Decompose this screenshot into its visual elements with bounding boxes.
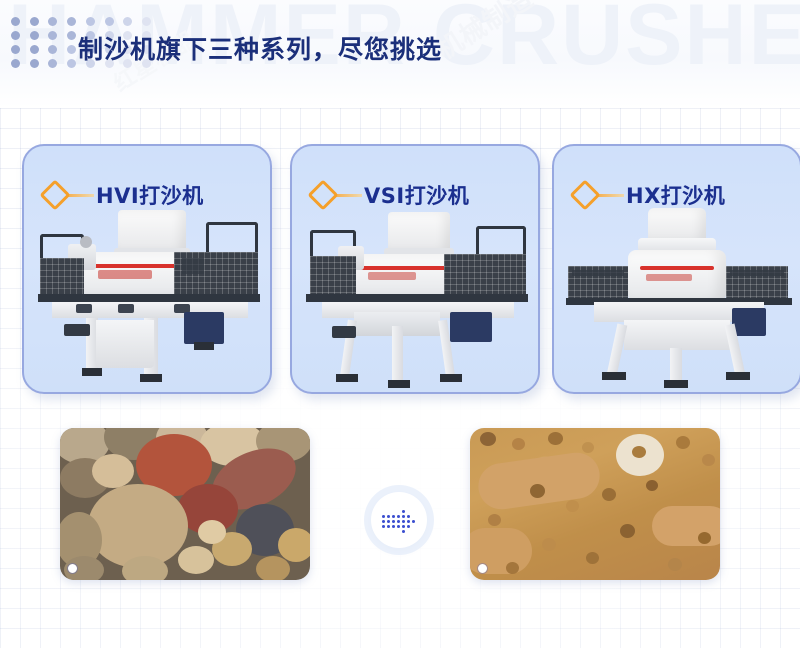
series-card-title: HVI打沙机 bbox=[96, 180, 204, 210]
series-card-title: VSI打沙机 bbox=[364, 180, 469, 210]
series-card-vsi[interactable]: VSI打沙机 bbox=[290, 144, 540, 394]
card-header: VSI打沙机 bbox=[312, 180, 469, 210]
output-photo-card[interactable] bbox=[470, 428, 720, 580]
series-card-hx[interactable]: HX打沙机 bbox=[552, 144, 800, 394]
process-arrow-badge bbox=[371, 492, 427, 548]
hx-sand-making-machine-photo bbox=[554, 208, 800, 418]
connector-dash-icon bbox=[598, 194, 624, 197]
diamond-marker-icon bbox=[569, 179, 600, 210]
river-stone-raw-material-photo bbox=[60, 428, 310, 580]
page-title: 制沙机旗下三种系列，尽您挑选 bbox=[78, 30, 442, 66]
diamond-marker-icon bbox=[307, 179, 338, 210]
vsi-sand-making-machine-photo bbox=[292, 208, 542, 418]
page-header: HAMMER CRUSHER 机械制造 红星机器 制沙机旗下三种系列，尽您挑选 bbox=[0, 0, 800, 108]
series-card-hvi[interactable]: HVI打沙机 bbox=[22, 144, 272, 394]
input-photo-card[interactable] bbox=[60, 428, 310, 580]
connector-dash-icon bbox=[68, 194, 94, 197]
card-header: HX打沙机 bbox=[574, 180, 725, 210]
connector-anchor-dot bbox=[68, 564, 77, 573]
card-header: HVI打沙机 bbox=[44, 180, 204, 210]
connector-dash-icon bbox=[336, 194, 362, 197]
series-card-title: HX打沙机 bbox=[626, 180, 725, 210]
diamond-marker-icon bbox=[39, 179, 70, 210]
pixel-arrow-right-icon bbox=[382, 507, 416, 533]
hvi-sand-making-machine-photo bbox=[24, 208, 274, 418]
series-card-list: HVI打沙机 bbox=[0, 144, 800, 406]
promo-banner-page: HAMMER CRUSHER 机械制造 红星机器 制沙机旗下三种系列，尽您挑选 … bbox=[0, 0, 800, 648]
connector-anchor-dot bbox=[478, 564, 487, 573]
river-stone-finished-sand-photo bbox=[470, 428, 720, 580]
